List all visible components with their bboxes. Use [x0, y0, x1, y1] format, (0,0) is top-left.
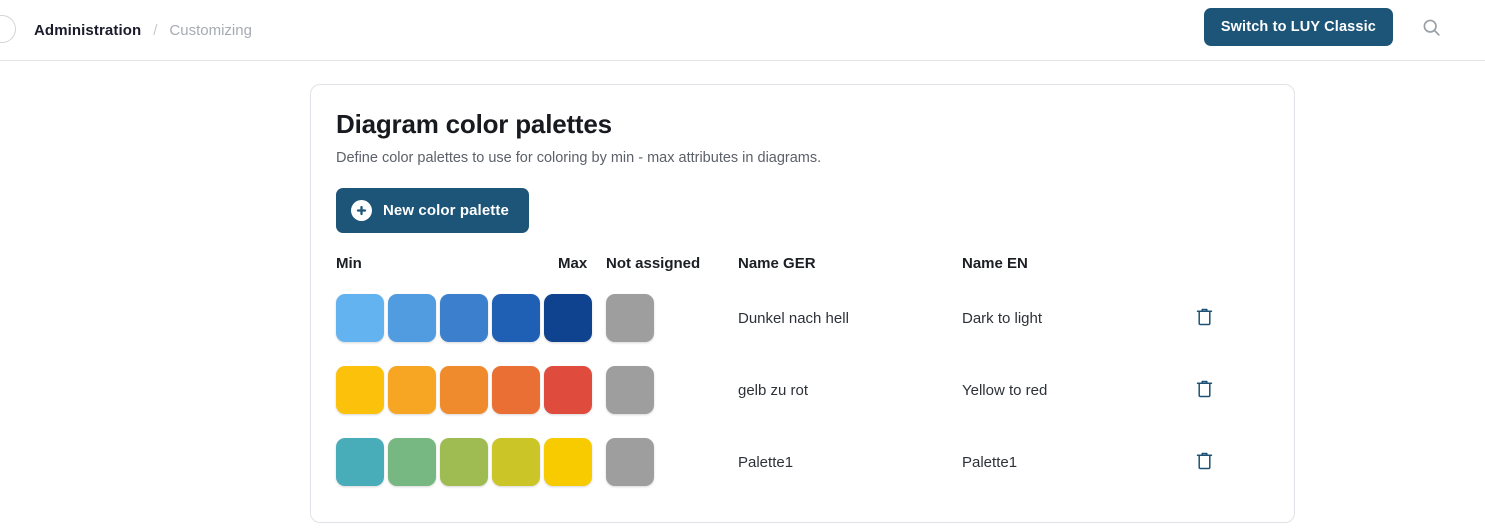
- breadcrumb-item-administration[interactable]: Administration: [34, 22, 141, 39]
- color-swatch[interactable]: [544, 294, 592, 342]
- palette-swatches-cell: [336, 354, 606, 426]
- table-row: Dunkel nach hellDark to light: [336, 282, 1270, 354]
- name-ger-cell[interactable]: Palette1: [738, 426, 962, 498]
- palette-swatches-cell: [336, 426, 606, 498]
- name-ger-cell[interactable]: Dunkel nach hell: [738, 282, 962, 354]
- palette-swatch-run: [336, 438, 606, 486]
- column-header-name-en: Name EN: [962, 255, 1192, 282]
- name-ger-cell[interactable]: gelb zu rot: [738, 354, 962, 426]
- top-bar: Administration / Customizing Switch to L…: [0, 0, 1485, 61]
- color-swatch[interactable]: [492, 366, 540, 414]
- not-assigned-cell: [606, 354, 738, 426]
- column-header-not-assigned: Not assigned: [606, 255, 738, 282]
- color-swatch[interactable]: [388, 294, 436, 342]
- palette-swatch-run: [336, 294, 606, 342]
- row-actions-cell: [1192, 354, 1270, 426]
- row-actions-cell: [1192, 426, 1270, 498]
- not-assigned-swatch[interactable]: [606, 366, 654, 414]
- breadcrumb: Administration / Customizing: [34, 0, 252, 60]
- palette-swatches-cell: [336, 282, 606, 354]
- color-swatch[interactable]: [492, 438, 540, 486]
- trash-icon[interactable]: [1192, 304, 1216, 330]
- color-swatch[interactable]: [440, 294, 488, 342]
- color-swatch[interactable]: [440, 366, 488, 414]
- color-swatch[interactable]: [336, 294, 384, 342]
- row-actions-cell: [1192, 282, 1270, 354]
- not-assigned-cell: [606, 282, 738, 354]
- table-row: Palette1Palette1: [336, 426, 1270, 498]
- name-en-cell[interactable]: Dark to light: [962, 282, 1192, 354]
- search-icon[interactable]: [1417, 13, 1445, 41]
- column-header-actions: [1192, 255, 1270, 282]
- color-swatch[interactable]: [440, 438, 488, 486]
- home-circle-icon[interactable]: [0, 15, 16, 43]
- name-en-cell[interactable]: Yellow to red: [962, 354, 1192, 426]
- color-swatch[interactable]: [388, 366, 436, 414]
- color-swatch[interactable]: [388, 438, 436, 486]
- name-en-cell[interactable]: Palette1: [962, 426, 1192, 498]
- color-swatch[interactable]: [492, 294, 540, 342]
- switch-to-luy-classic-button[interactable]: Switch to LUY Classic: [1204, 8, 1393, 46]
- table-header-row: Min Max Not assigned Name GER Name EN: [336, 255, 1270, 282]
- new-color-palette-button[interactable]: New color palette: [336, 188, 529, 233]
- not-assigned-swatch[interactable]: [606, 438, 654, 486]
- color-swatch[interactable]: [544, 366, 592, 414]
- not-assigned-cell: [606, 426, 738, 498]
- column-header-name-ger: Name GER: [738, 255, 962, 282]
- breadcrumb-item-customizing[interactable]: Customizing: [169, 22, 252, 39]
- color-swatch[interactable]: [544, 438, 592, 486]
- table-row: gelb zu rotYellow to red: [336, 354, 1270, 426]
- page-title: Diagram color palettes: [336, 107, 1270, 141]
- color-swatch[interactable]: [336, 366, 384, 414]
- diagram-color-palettes-card: Diagram color palettes Define color pale…: [310, 84, 1295, 523]
- breadcrumb-separator: /: [153, 22, 157, 39]
- color-swatch[interactable]: [336, 438, 384, 486]
- card-subtitle: Define color palettes to use for colorin…: [336, 148, 1270, 168]
- column-header-max: Max: [558, 255, 606, 282]
- new-color-palette-label: New color palette: [383, 202, 509, 219]
- trash-icon[interactable]: [1192, 376, 1216, 402]
- color-palettes-table: Min Max Not assigned Name GER Name EN Du…: [336, 255, 1270, 498]
- plus-circle-icon: [351, 200, 372, 221]
- column-header-min: Min: [336, 255, 558, 282]
- trash-icon[interactable]: [1192, 448, 1216, 474]
- palette-swatch-run: [336, 366, 606, 414]
- not-assigned-swatch[interactable]: [606, 294, 654, 342]
